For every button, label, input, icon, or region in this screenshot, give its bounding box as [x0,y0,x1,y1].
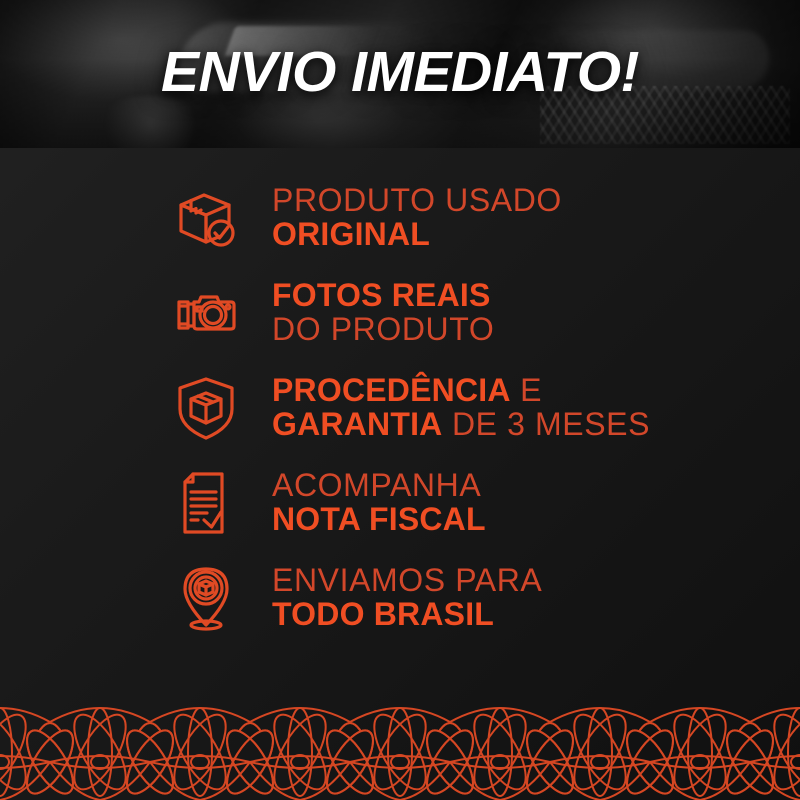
feature-row-procedencia-garantia: PROCEDÊNCIA E GARANTIA DE 3 MESES [0,360,800,455]
feature-row-todo-brasil: ENVIAMOS PARA TODO BRASIL [0,550,800,645]
feature-line-2: DO PRODUTO [272,313,494,346]
feature-line-1: FOTOS REAIS [272,279,494,312]
invoice-document-check-icon [168,465,244,541]
feature-text: FOTOS REAIS DO PRODUTO [272,279,494,346]
feature-line-2: GARANTIA DE 3 MESES [272,408,650,441]
feature-line-2: NOTA FISCAL [272,503,486,536]
feature-line-1: ACOMPANHA [272,469,486,502]
feature-row-fotos-reais: FOTOS REAIS DO PRODUTO [0,265,800,360]
feature-line-1: PRODUTO USADO [272,184,562,217]
feature-text: ENVIAMOS PARA TODO BRASIL [272,564,542,631]
package-box-check-icon [168,180,244,256]
feature-text: PRODUTO USADO ORIGINAL [272,184,562,251]
feature-text: PROCEDÊNCIA E GARANTIA DE 3 MESES [272,374,650,441]
feature-line-2-regular: DE 3 MESES [442,406,650,442]
feature-line-1: ENVIAMOS PARA [272,564,542,597]
promo-banner: ENVIO IMEDIATO! PRODUTO USADO ORIGIN [0,0,800,800]
feature-line-2-bold: GARANTIA [272,406,442,442]
feature-line-2: TODO BRASIL [272,598,542,631]
feature-row-nota-fiscal: ACOMPANHA NOTA FISCAL [0,455,800,550]
feature-list: PRODUTO USADO ORIGINAL [0,170,800,645]
feature-line-1: PROCEDÊNCIA E [272,374,650,407]
feature-text: ACOMPANHA NOTA FISCAL [272,469,486,536]
shield-box-icon [168,370,244,446]
floral-lattice-border [0,700,800,800]
header-band: ENVIO IMEDIATO! [0,0,800,148]
feature-line-1-regular: E [511,372,542,408]
feature-line-2: ORIGINAL [272,218,562,251]
feature-row-produto-original: PRODUTO USADO ORIGINAL [0,170,800,265]
page-title: ENVIO IMEDIATO! [0,44,800,101]
camera-icon [168,275,244,351]
location-pin-box-icon [168,560,244,636]
feature-line-1-bold: PROCEDÊNCIA [272,372,511,408]
